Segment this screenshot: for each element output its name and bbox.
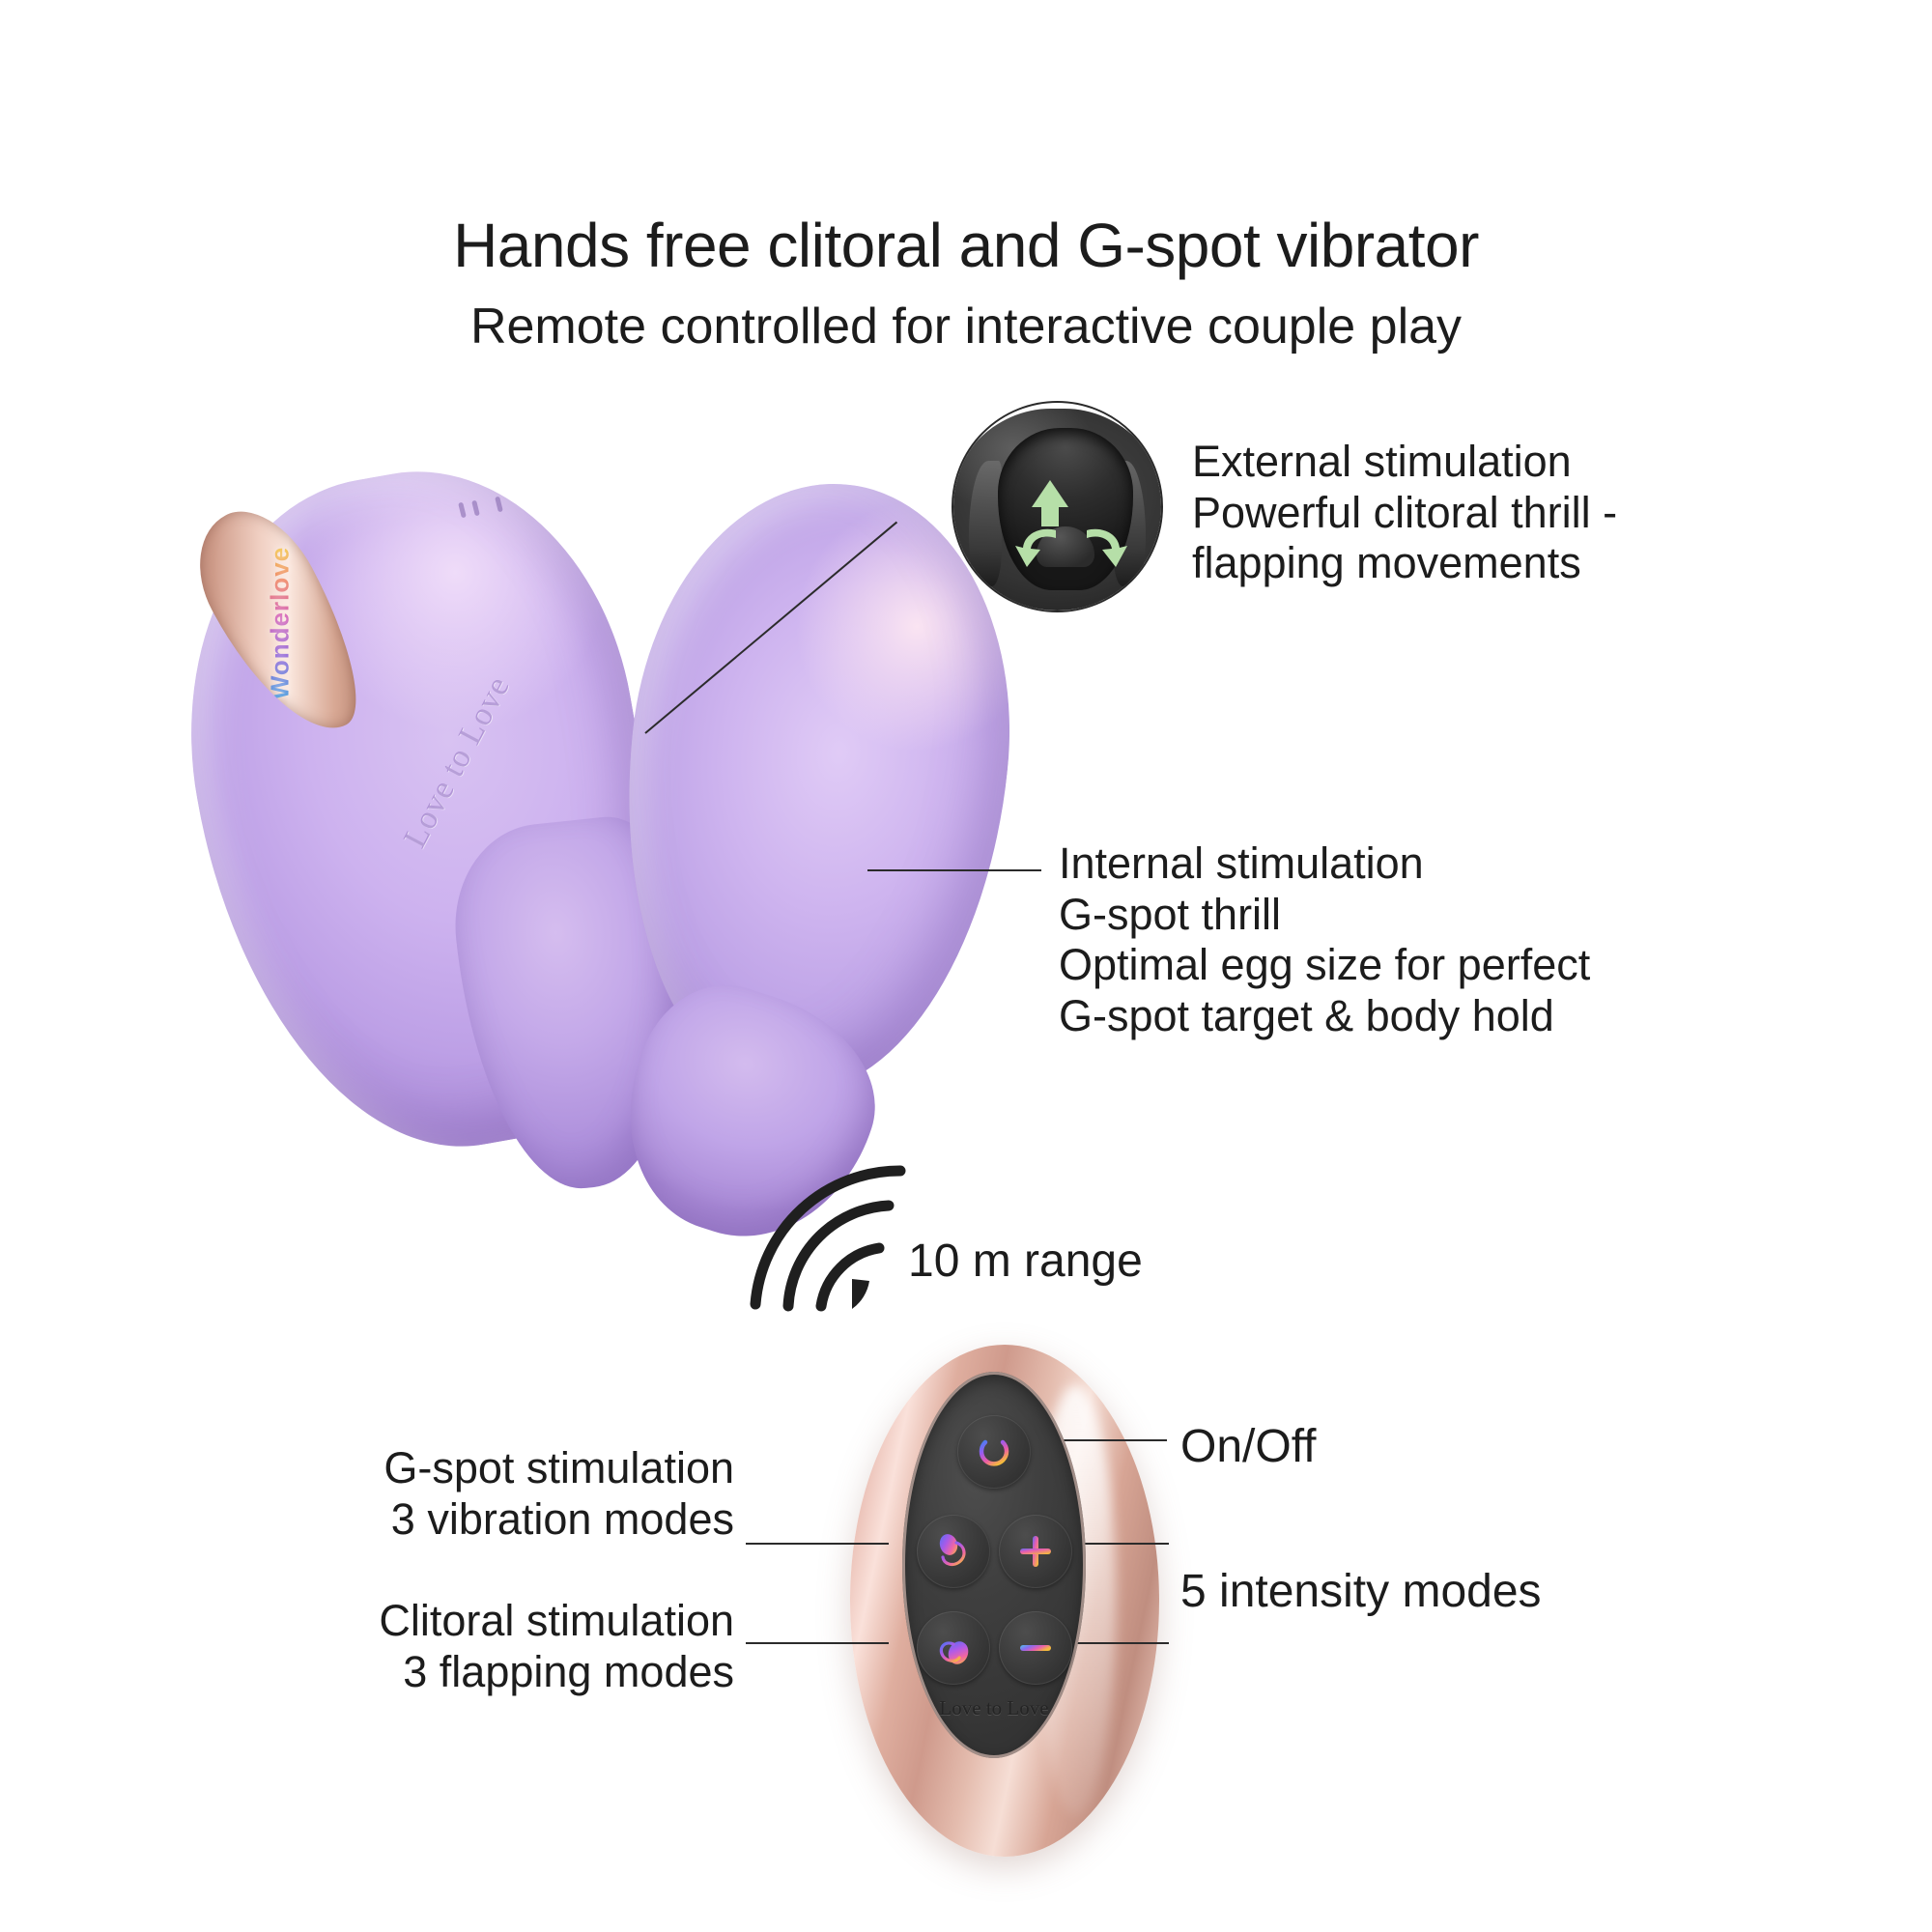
- intensity-increase-button[interactable]: [999, 1515, 1072, 1588]
- callout-external-line1: External stimulation: [1192, 437, 1617, 488]
- callout-gspot-line1: G-spot stimulation: [307, 1443, 734, 1494]
- leader-line-gspot: [746, 1543, 889, 1545]
- infographic-canvas: Hands free clitoral and G-spot vibrator …: [0, 0, 1932, 1932]
- leader-line-clitoral: [746, 1642, 889, 1644]
- leader-line-internal: [867, 869, 1041, 871]
- callout-internal-stimulation: Internal stimulation G-spot thrill Optim…: [1059, 838, 1590, 1042]
- callout-external-stimulation: External stimulation Powerful clitoral t…: [1192, 437, 1617, 589]
- callout-on-off: On/Off: [1180, 1420, 1317, 1474]
- product-brand-logo: Wonderlove: [266, 547, 296, 699]
- magnified-detail-clitoral-chamber: [952, 401, 1163, 612]
- g-spot-vibrator-icon: [932, 1530, 975, 1573]
- remote-button-panel: Love to Love: [902, 1372, 1086, 1758]
- callout-range: 10 m range: [908, 1235, 1143, 1289]
- page-title: Hands free clitoral and G-spot vibrator: [0, 214, 1932, 276]
- callout-g-spot-modes: G-spot stimulation 3 vibration modes: [307, 1443, 734, 1545]
- wifi-signal-icon: [744, 1159, 927, 1323]
- callout-external-line2: Powerful clitoral thrill -: [1192, 488, 1617, 539]
- power-button[interactable]: [957, 1415, 1031, 1489]
- callout-clitoral-modes: Clitoral stimulation 3 flapping modes: [296, 1596, 734, 1697]
- callout-gspot-line2: 3 vibration modes: [307, 1494, 734, 1546]
- callout-internal-line2: G-spot thrill: [1059, 890, 1590, 941]
- plus-icon: [1015, 1531, 1056, 1572]
- page-subtitle: Remote controlled for interactive couple…: [0, 301, 1932, 352]
- callout-clitoral-line1: Clitoral stimulation: [296, 1596, 734, 1647]
- intensity-decrease-button[interactable]: [999, 1611, 1072, 1685]
- callout-clitoral-line2: 3 flapping modes: [296, 1647, 734, 1698]
- remote-brand-label: Love to Love: [902, 1696, 1086, 1720]
- arrow-curve-left-icon: [1013, 525, 1067, 573]
- product-illustration: Wonderlove Love to Love: [174, 454, 1063, 1227]
- callout-on-off-label: On/Off: [1180, 1420, 1317, 1474]
- callout-intensity-label: 5 intensity modes: [1180, 1565, 1542, 1619]
- arrow-curve-right-icon: [1075, 525, 1129, 573]
- callout-intensity-modes: 5 intensity modes: [1180, 1565, 1542, 1619]
- power-icon: [975, 1433, 1013, 1471]
- g-spot-mode-button[interactable]: [917, 1515, 990, 1588]
- minus-icon: [1015, 1628, 1056, 1668]
- remote-control: Love to Love: [850, 1345, 1159, 1857]
- clitoral-mode-button[interactable]: [917, 1611, 990, 1685]
- callout-range-label: 10 m range: [908, 1235, 1143, 1289]
- clitoral-vibrator-icon: [932, 1627, 975, 1669]
- callout-internal-line1: Internal stimulation: [1059, 838, 1590, 890]
- callout-internal-line3: Optimal egg size for perfect: [1059, 940, 1590, 991]
- callout-external-line3: flapping movements: [1192, 538, 1617, 589]
- callout-internal-line4: G-spot target & body hold: [1059, 991, 1590, 1042]
